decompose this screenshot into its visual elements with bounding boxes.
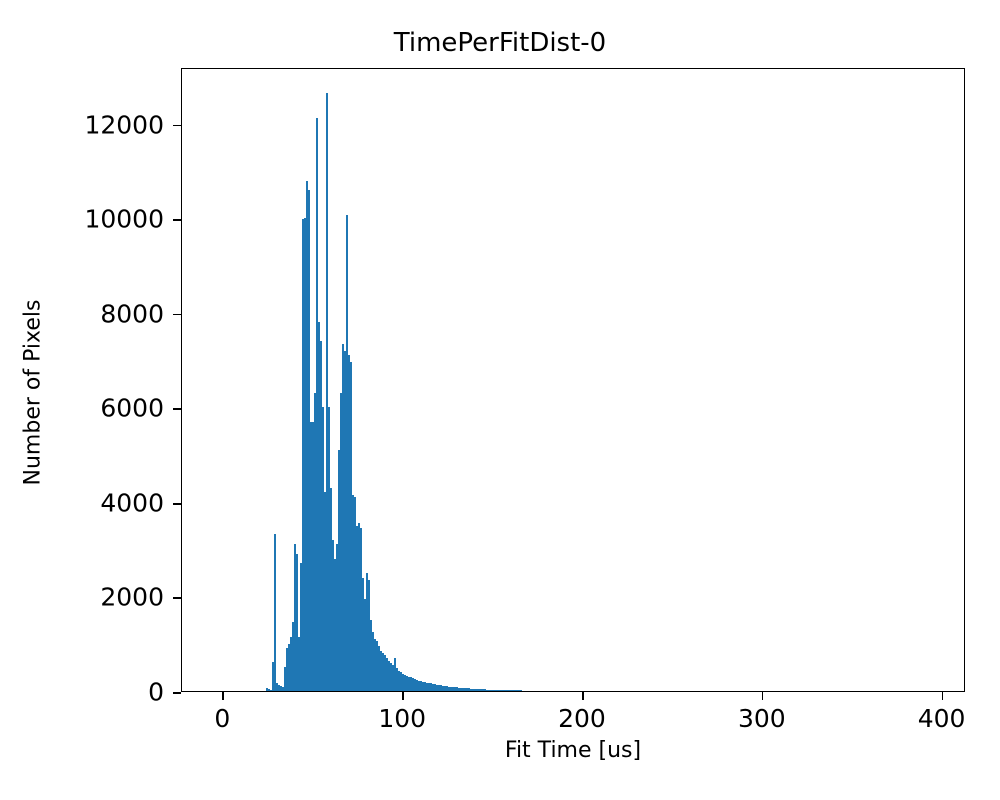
y-tick-mark bbox=[173, 408, 181, 410]
x-tick-label: 300 bbox=[738, 704, 786, 733]
x-tick-mark bbox=[402, 692, 404, 700]
histogram-bars bbox=[182, 69, 964, 691]
histogram-figure: TimePerFitDist-0 02000400060008000100001… bbox=[0, 0, 1000, 800]
y-tick-mark bbox=[173, 597, 181, 599]
x-tick-mark bbox=[582, 692, 584, 700]
y-tick-mark bbox=[173, 219, 181, 221]
y-tick-label: 10000 bbox=[84, 205, 164, 234]
x-tick-label: 200 bbox=[558, 704, 606, 733]
y-tick-mark bbox=[173, 125, 181, 127]
x-tick-label: 400 bbox=[918, 704, 966, 733]
y-axis-label: Number of Pixels bbox=[21, 243, 46, 543]
y-tick-label: 2000 bbox=[100, 583, 164, 612]
x-tick-label: 100 bbox=[378, 704, 426, 733]
y-tick-mark bbox=[173, 314, 181, 316]
chart-title: TimePerFitDist-0 bbox=[0, 28, 1000, 58]
y-tick-mark bbox=[173, 503, 181, 505]
y-tick-label: 8000 bbox=[100, 299, 164, 328]
x-tick-mark bbox=[942, 692, 944, 700]
y-tick-label: 12000 bbox=[84, 110, 164, 139]
y-tick-label: 4000 bbox=[100, 488, 164, 517]
x-tick-mark bbox=[762, 692, 764, 700]
x-tick-label: 0 bbox=[214, 704, 230, 733]
plot-area bbox=[181, 68, 965, 692]
y-tick-label: 0 bbox=[148, 678, 164, 707]
x-axis-label: Fit Time [us] bbox=[181, 738, 965, 763]
y-tick-mark bbox=[173, 692, 181, 694]
y-tick-label: 6000 bbox=[100, 394, 164, 423]
x-tick-mark bbox=[222, 692, 224, 700]
histogram-bar bbox=[274, 534, 276, 691]
